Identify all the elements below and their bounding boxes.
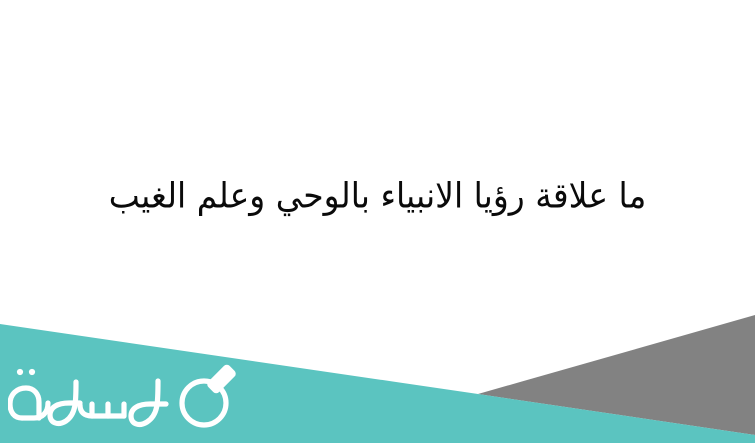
taa-marbuta-dots	[17, 369, 35, 375]
logo-letter-seen-bowl	[80, 405, 124, 416]
logo-letter-taa-marbuta	[10, 388, 39, 418]
logo-mark	[8, 358, 268, 432]
logo-letter-waw	[131, 381, 166, 424]
logo-letter-ain	[22, 403, 48, 418]
logo-letter-waw-2	[50, 382, 80, 423]
site-logo[interactable]: موسوعة	[8, 358, 268, 432]
title-card: ما علاقة رؤيا الانبياء بالوحي وعلم الغيب	[0, 0, 755, 443]
